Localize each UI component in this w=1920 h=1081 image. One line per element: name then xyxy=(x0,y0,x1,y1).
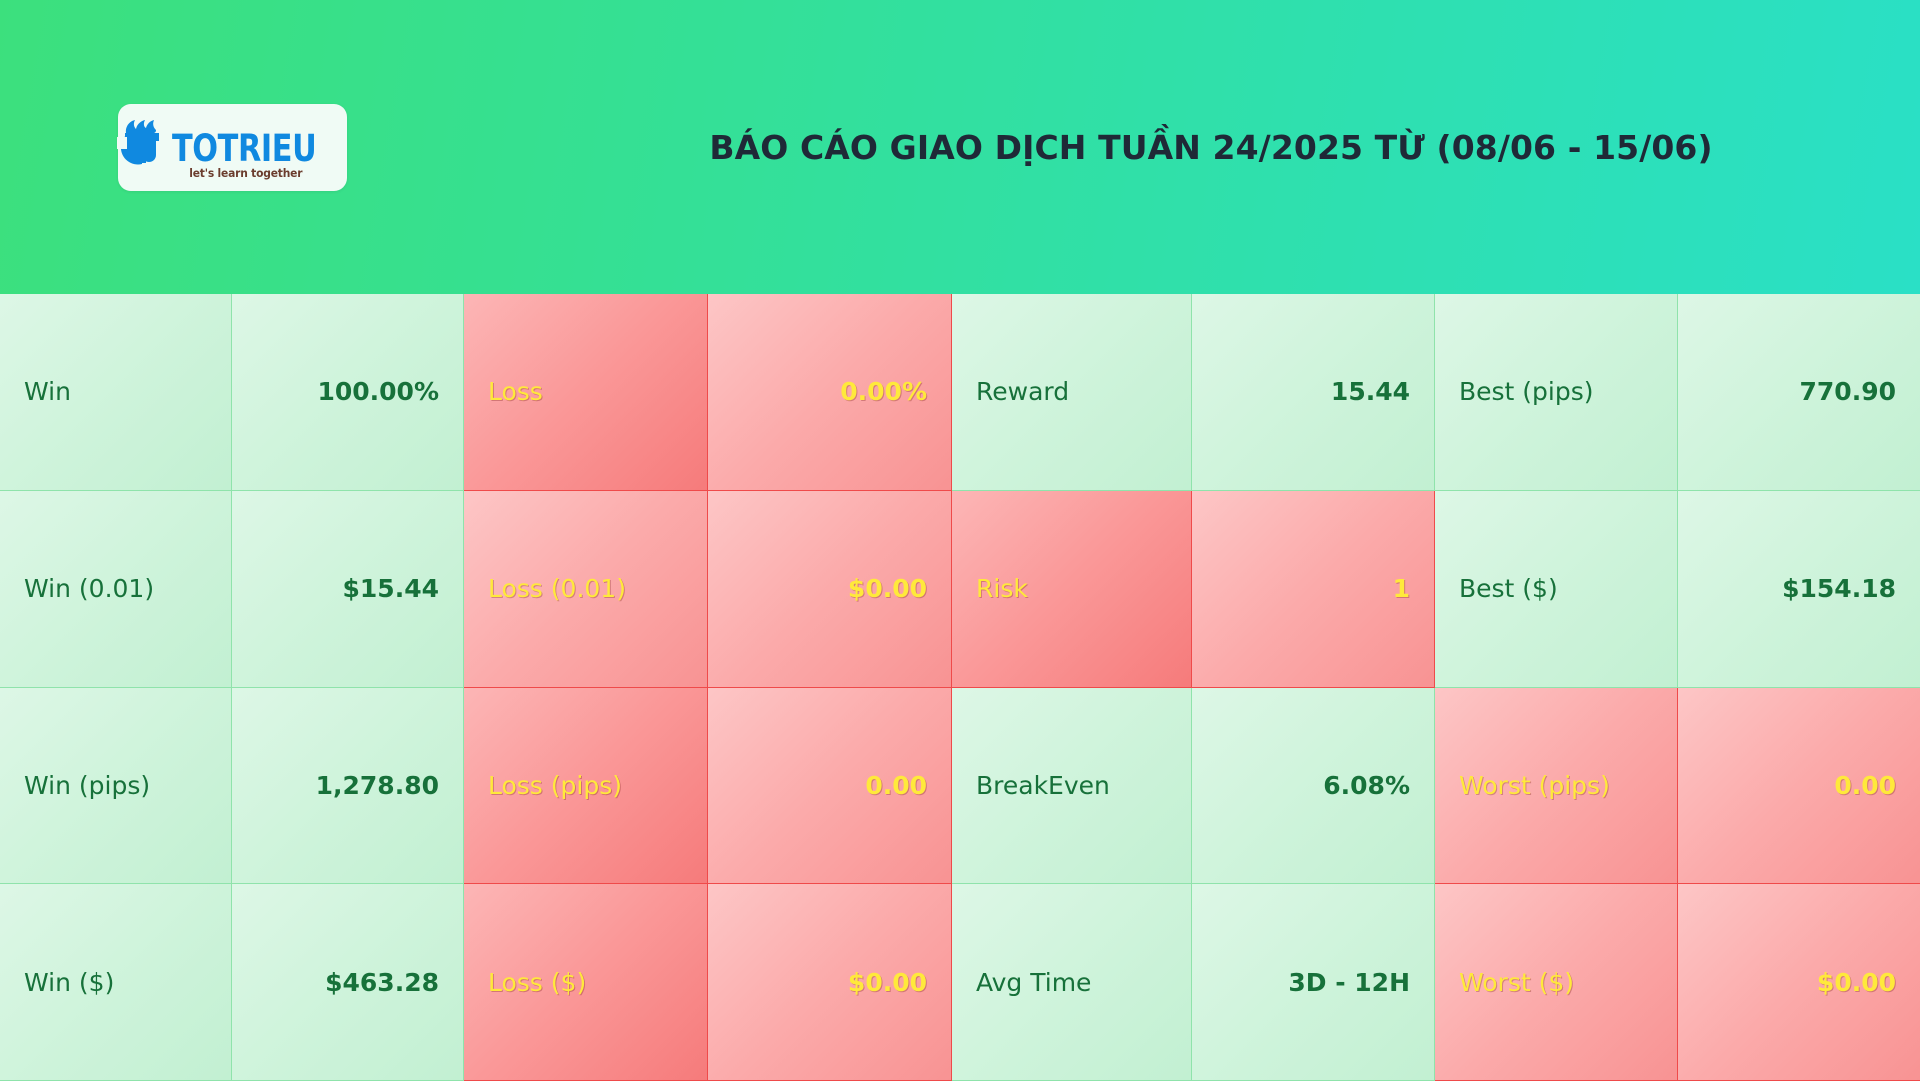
stat-value: $15.44 xyxy=(232,491,464,688)
logo-tagline: let's learn together xyxy=(189,166,302,180)
stat-value: 0.00% xyxy=(708,294,952,491)
stat-value: $0.00 xyxy=(708,884,952,1081)
stat-label: Loss (pips) xyxy=(464,688,708,885)
logo-wordmark: TOTRIEU xyxy=(172,133,316,165)
stat-value: $154.18 xyxy=(1678,491,1920,688)
stat-label: Win ($) xyxy=(0,884,232,1081)
stat-value: 3D - 12H xyxy=(1192,884,1435,1081)
stat-value: 770.90 xyxy=(1678,294,1920,491)
stat-label: Reward xyxy=(952,294,1192,491)
stat-value: $463.28 xyxy=(232,884,464,1081)
brand-logo: TOTRIEU let's learn together xyxy=(118,104,347,191)
stat-label: Worst ($) xyxy=(1435,884,1678,1081)
stat-label: Loss (0.01) xyxy=(464,491,708,688)
stat-label: Win xyxy=(0,294,232,491)
logo-row: TOTRIEU xyxy=(117,119,348,165)
stat-value: 1 xyxy=(1192,491,1435,688)
stat-label: Win (pips) xyxy=(0,688,232,885)
stat-label: Worst (pips) xyxy=(1435,688,1678,885)
stat-value: 100.00% xyxy=(232,294,464,491)
stat-value: 6.08% xyxy=(1192,688,1435,885)
report-header: TOTRIEU let's learn together BÁO CÁO GIA… xyxy=(0,0,1920,294)
stat-label: Risk xyxy=(952,491,1192,688)
stat-label: Best (pips) xyxy=(1435,294,1678,491)
stat-value: $0.00 xyxy=(708,491,952,688)
stat-value: $0.00 xyxy=(1678,884,1920,1081)
flame-t-shield-icon xyxy=(117,119,169,165)
stat-label: Loss xyxy=(464,294,708,491)
stat-value: 1,278.80 xyxy=(232,688,464,885)
stat-label: BreakEven xyxy=(952,688,1192,885)
page-title: BÁO CÁO GIAO DỊCH TUẦN 24/2025 TỪ (08/06… xyxy=(596,0,1826,294)
stat-label: Loss ($) xyxy=(464,884,708,1081)
stat-value: 15.44 xyxy=(1192,294,1435,491)
stat-label: Win (0.01) xyxy=(0,491,232,688)
stat-value: 0.00 xyxy=(708,688,952,885)
report-page: TOTRIEU let's learn together BÁO CÁO GIA… xyxy=(0,0,1920,1081)
stat-label: Avg Time xyxy=(952,884,1192,1081)
stats-grid: Win100.00%Loss0.00%Reward15.44Best (pips… xyxy=(0,294,1920,1081)
stat-label: Best ($) xyxy=(1435,491,1678,688)
stat-value: 0.00 xyxy=(1678,688,1920,885)
